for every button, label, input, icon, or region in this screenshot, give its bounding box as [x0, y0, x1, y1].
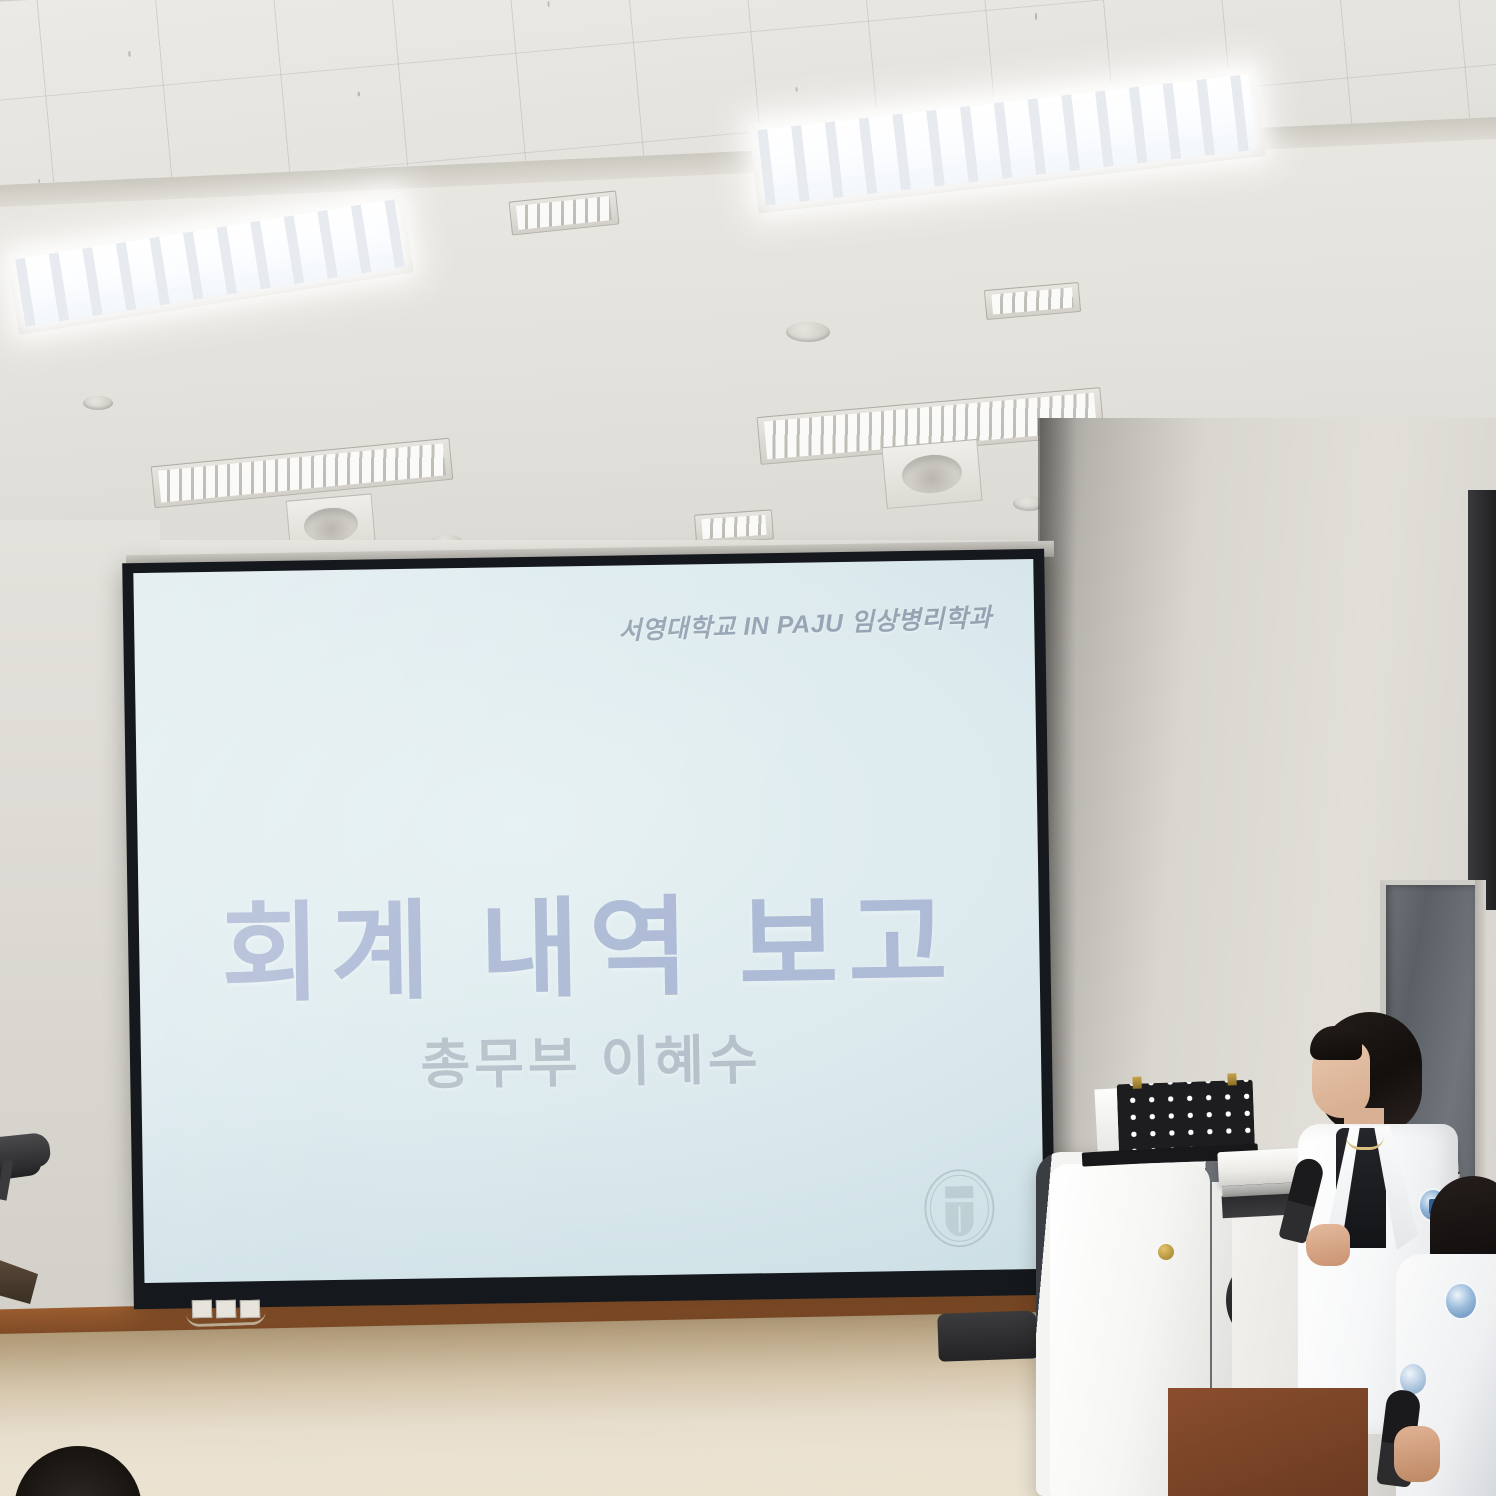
presenter-hair-bangs [1310, 1026, 1362, 1060]
foreground-person-hand [1394, 1426, 1440, 1482]
air-conditioner-badge-icon [1158, 1244, 1174, 1260]
smoke-detector-icon [786, 322, 830, 342]
projection-screen-surface: 서영대학교 IN PAJU 임상병리학과 회계 내역 보고 총무부 이혜수 [133, 559, 1044, 1283]
floor-cable [186, 1311, 266, 1328]
lecture-hall-scene: 서영대학교 IN PAJU 임상병리학과 회계 내역 보고 총무부 이혜수 [0, 0, 1496, 1496]
right-edge-dark-panel [1468, 490, 1496, 910]
projection-screen[interactable]: 서영대학교 IN PAJU 임상병리학과 회계 내역 보고 총무부 이혜수 [122, 549, 1056, 1309]
presenter-hand [1306, 1224, 1350, 1266]
floor-bag [937, 1310, 1039, 1361]
foreground-person-shoulder-patch-icon [1444, 1282, 1478, 1320]
foreground-person [1396, 1176, 1496, 1496]
wooden-lectern-foreground [1168, 1388, 1368, 1496]
university-crest-logo-icon [923, 1168, 996, 1249]
slide-subtitle: 총무부 이혜수 [140, 1011, 1041, 1104]
ceiling-recessed-downlight-icon [881, 439, 982, 509]
slide-title: 회계 내역 보고 [138, 855, 1040, 1025]
smoke-detector-icon [83, 396, 113, 410]
slide-header-text: 서영대학교 IN PAJU 임상병리학과 [618, 598, 993, 648]
